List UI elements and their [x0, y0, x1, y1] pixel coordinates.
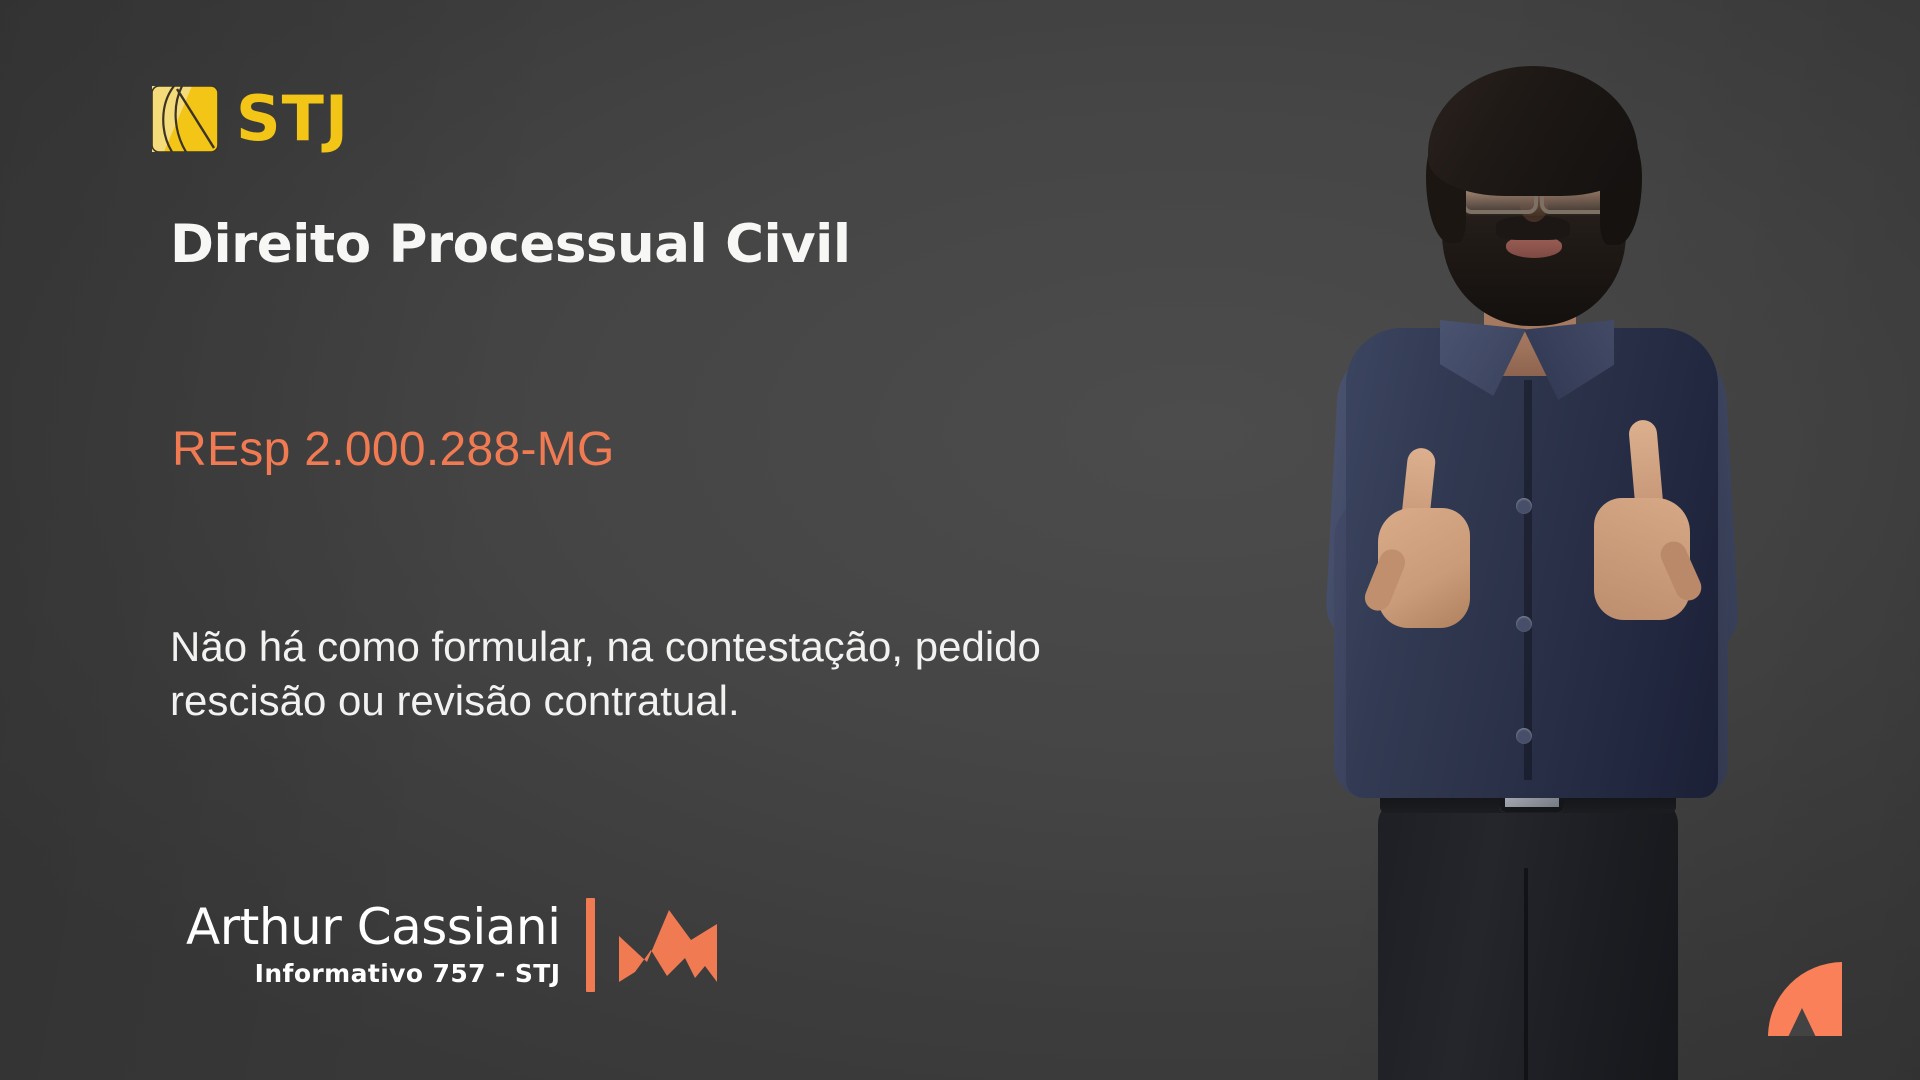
- footer-brand-lockup: Arthur Cassiani Informativo 757 - STJ: [186, 898, 719, 992]
- presenter-shirt-button: [1516, 616, 1532, 632]
- summary-line: Não há como formular, na contestação, pe…: [170, 620, 1350, 674]
- footer-brand-text: Arthur Cassiani Informativo 757 - STJ: [186, 902, 560, 989]
- presenter-shirt-button: [1516, 728, 1532, 744]
- summary-text: Não há como formular, na contestação, pe…: [170, 620, 1350, 728]
- case-number: REsp 2.000.288-MG: [172, 424, 615, 477]
- stj-wordmark: STJ: [236, 88, 349, 150]
- corner-watermark: [1768, 962, 1842, 1036]
- brand-divider: [586, 898, 595, 992]
- presenter-shirt-button: [1516, 498, 1532, 514]
- mountain-peaks-icon: [617, 906, 719, 984]
- stj-logo: STJ: [152, 86, 349, 152]
- summary-line: rescisão ou revisão contratual.: [170, 674, 1350, 728]
- footer-brand-subtitle: Informativo 757 - STJ: [255, 959, 561, 989]
- course-title: Direito Processual Civil: [170, 216, 851, 274]
- presenter-trouser-seam: [1524, 868, 1528, 1080]
- presenter-shirt-placket: [1524, 380, 1532, 780]
- presenter-trousers: [1378, 798, 1678, 1080]
- presenter-hair: [1428, 66, 1638, 196]
- stj-book-icon: [152, 86, 218, 152]
- footer-brand-name: Arthur Cassiani: [186, 902, 560, 953]
- slide-canvas: STJ Direito Processual Civil REsp 2.000.…: [0, 0, 1920, 1080]
- presenter-figure: [1228, 28, 1848, 1080]
- mountain-peaks-badge-icon: [1768, 962, 1842, 1036]
